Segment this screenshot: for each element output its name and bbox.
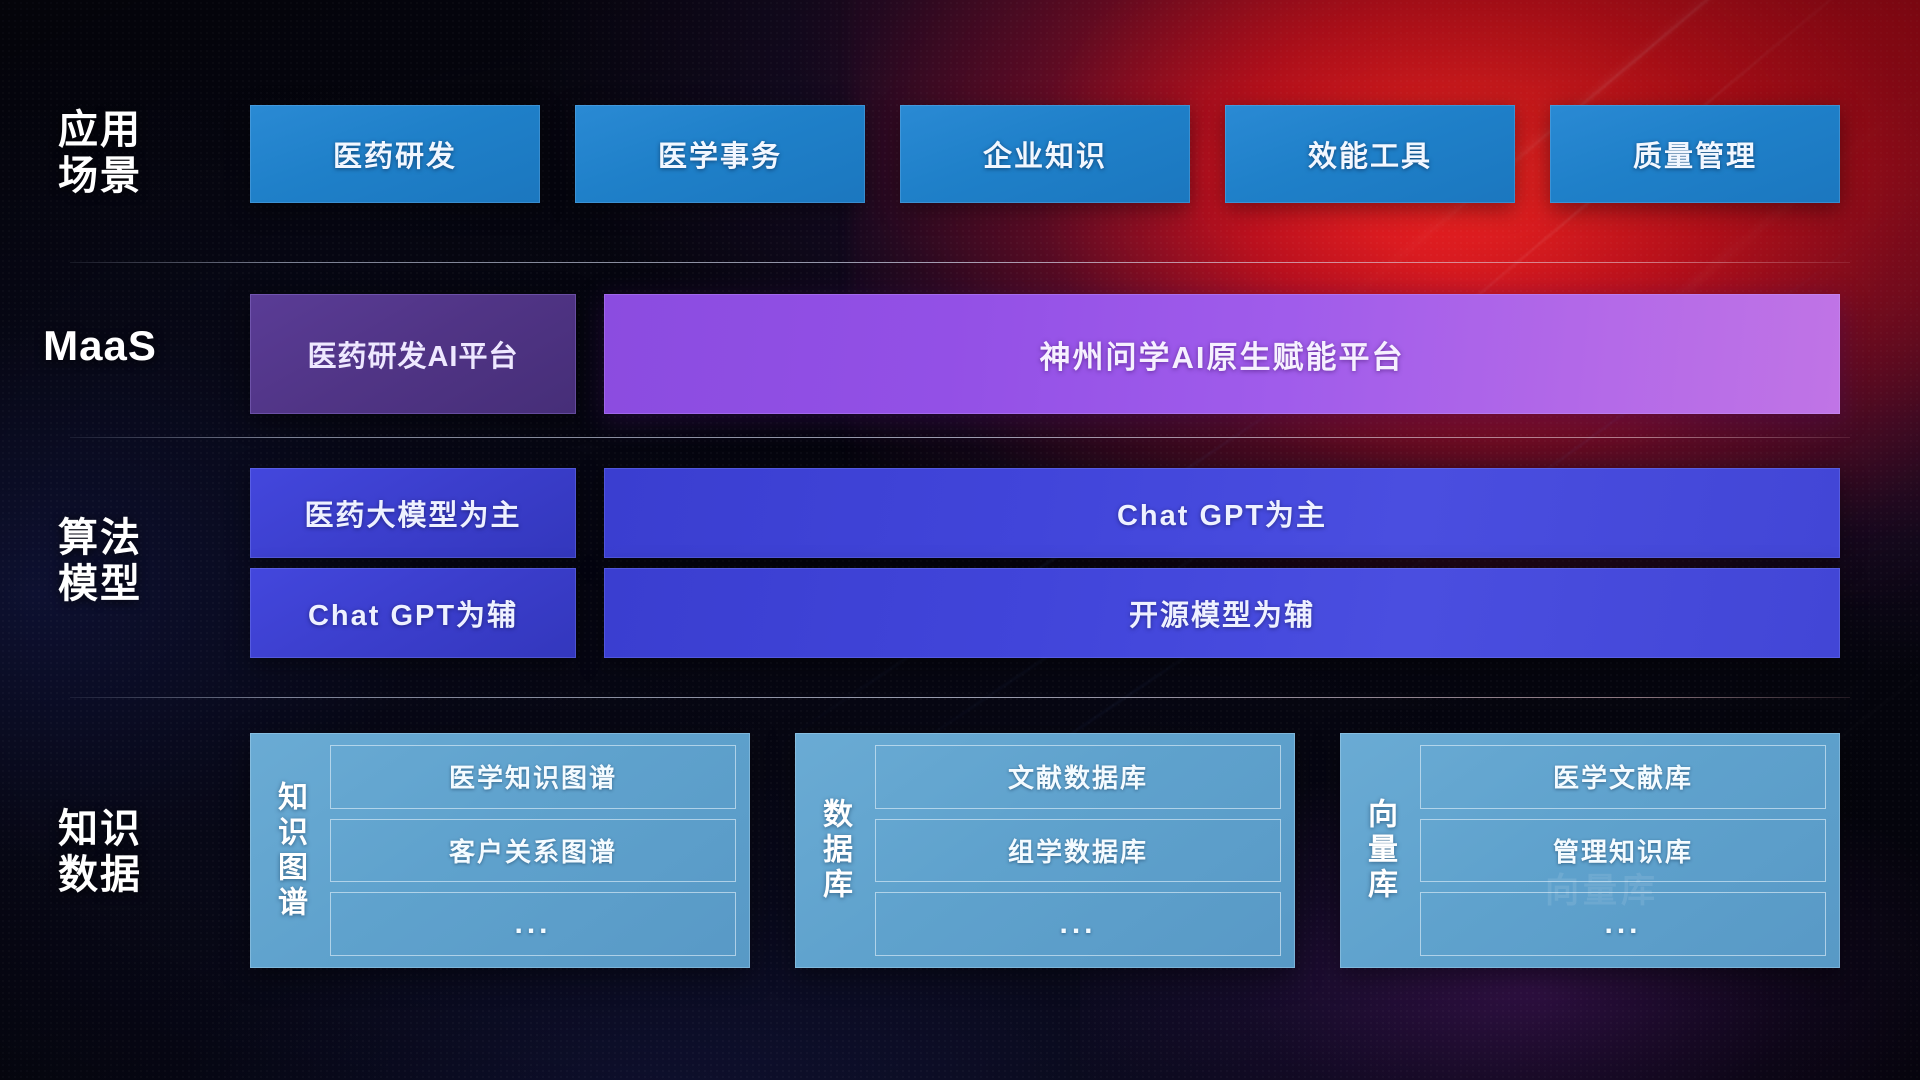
knowledge-item-more[interactable]: ... [1420, 892, 1826, 956]
row-label-knowledge-data: 知识 数据 [0, 806, 200, 899]
maas-platform-label: 医药研发AI平台 [307, 333, 518, 375]
knowledge-item[interactable]: 医学知识图谱 [330, 745, 736, 809]
algorithm-box-opensource-secondary-label: 开源模型为辅 [1129, 592, 1315, 634]
divider-1 [70, 262, 1850, 263]
knowledge-item[interactable]: 医学文献库 [1420, 745, 1826, 809]
knowledge-item-more[interactable]: ... [875, 892, 1281, 956]
algorithm-box-chatgpt-secondary-label: Chat GPT为辅 [308, 592, 518, 634]
row-label-maas: MaaS [0, 322, 200, 371]
maas-enablement-platform-box[interactable]: 神州问学AI原生赋能平台 [604, 294, 1840, 414]
knowledge-panel-graph-items: 医学知识图谱 客户关系图谱 ... [330, 745, 736, 956]
row-label-line-1: 算法 [0, 515, 200, 561]
row-label-line-2: 数据 [0, 852, 200, 898]
scenario-box-3-label: 企业知识 [983, 133, 1107, 175]
scenario-box-5-label: 质量管理 [1633, 133, 1757, 175]
knowledge-panel-graph-label: 知识图谱 [262, 745, 316, 956]
knowledge-panel-database-label: 数据库 [807, 745, 861, 956]
knowledge-panel-vector-items: 医学文献库 管理知识库 ... [1420, 745, 1826, 956]
knowledge-panel-database-items: 文献数据库 组学数据库 ... [875, 745, 1281, 956]
knowledge-item[interactable]: 客户关系图谱 [330, 819, 736, 883]
algorithm-box-chatgpt-primary[interactable]: Chat GPT为主 [604, 468, 1840, 558]
knowledge-item[interactable]: 组学数据库 [875, 819, 1281, 883]
scenario-box-2[interactable]: 医学事务 [575, 105, 865, 203]
scenario-box-3[interactable]: 企业知识 [900, 105, 1190, 203]
divider-2 [70, 437, 1850, 438]
scenario-box-5[interactable]: 质量管理 [1550, 105, 1840, 203]
scenario-box-1[interactable]: 医药研发 [250, 105, 540, 203]
architecture-diagram: 应用 场景 医药研发 医学事务 企业知识 效能工具 质量管理 MaaS 医药研发… [0, 0, 1920, 1080]
row-label-application-scenario: 应用 场景 [0, 107, 200, 200]
row-application-scenario: 应用 场景 医药研发 医学事务 企业知识 效能工具 质量管理 [0, 105, 1920, 203]
knowledge-item-more[interactable]: ... [330, 892, 736, 956]
row-maas: MaaS 医药研发AI平台 神州问学AI原生赋能平台 [0, 294, 1920, 414]
maas-enablement-platform-label: 神州问学AI原生赋能平台 [1040, 332, 1405, 377]
row-algorithm-model: 算法 模型 医药大模型为主 Chat GPT为主 Chat GPT为辅 开源模型… [0, 460, 1920, 650]
row-knowledge-data: 知识 数据 知识图谱 医学知识图谱 客户关系图谱 ... 数据库 文献数据库 组… [0, 733, 1920, 968]
knowledge-panel-database[interactable]: 数据库 文献数据库 组学数据库 ... [795, 733, 1295, 968]
scenario-box-4[interactable]: 效能工具 [1225, 105, 1515, 203]
scenario-box-1-label: 医药研发 [333, 133, 457, 175]
algorithm-box-chatgpt-secondary[interactable]: Chat GPT为辅 [250, 568, 576, 658]
algorithm-box-pharma-primary[interactable]: 医药大模型为主 [250, 468, 576, 558]
row-label-line-1: 知识 [0, 806, 200, 852]
divider-3 [70, 697, 1850, 698]
knowledge-panel-graph[interactable]: 知识图谱 医学知识图谱 客户关系图谱 ... [250, 733, 750, 968]
algorithm-box-pharma-primary-label: 医药大模型为主 [304, 492, 521, 534]
scenario-box-4-label: 效能工具 [1308, 133, 1432, 175]
knowledge-panel-vector-label: 向量库 [1352, 745, 1406, 956]
knowledge-item[interactable]: 管理知识库 [1420, 819, 1826, 883]
knowledge-panel-vector[interactable]: 向量库 医学文献库 管理知识库 ... [1340, 733, 1840, 968]
row-label-line-2: 模型 [0, 561, 200, 607]
knowledge-item[interactable]: 文献数据库 [875, 745, 1281, 809]
row-label-line-1: 应用 [0, 107, 200, 153]
algorithm-box-opensource-secondary[interactable]: 开源模型为辅 [604, 568, 1840, 658]
scenario-box-2-label: 医学事务 [658, 133, 782, 175]
maas-platform-box[interactable]: 医药研发AI平台 [250, 294, 576, 414]
algorithm-box-chatgpt-primary-label: Chat GPT为主 [1117, 492, 1327, 534]
row-label-line-2: 场景 [0, 153, 200, 199]
row-label-algorithm-model: 算法 模型 [0, 515, 200, 608]
